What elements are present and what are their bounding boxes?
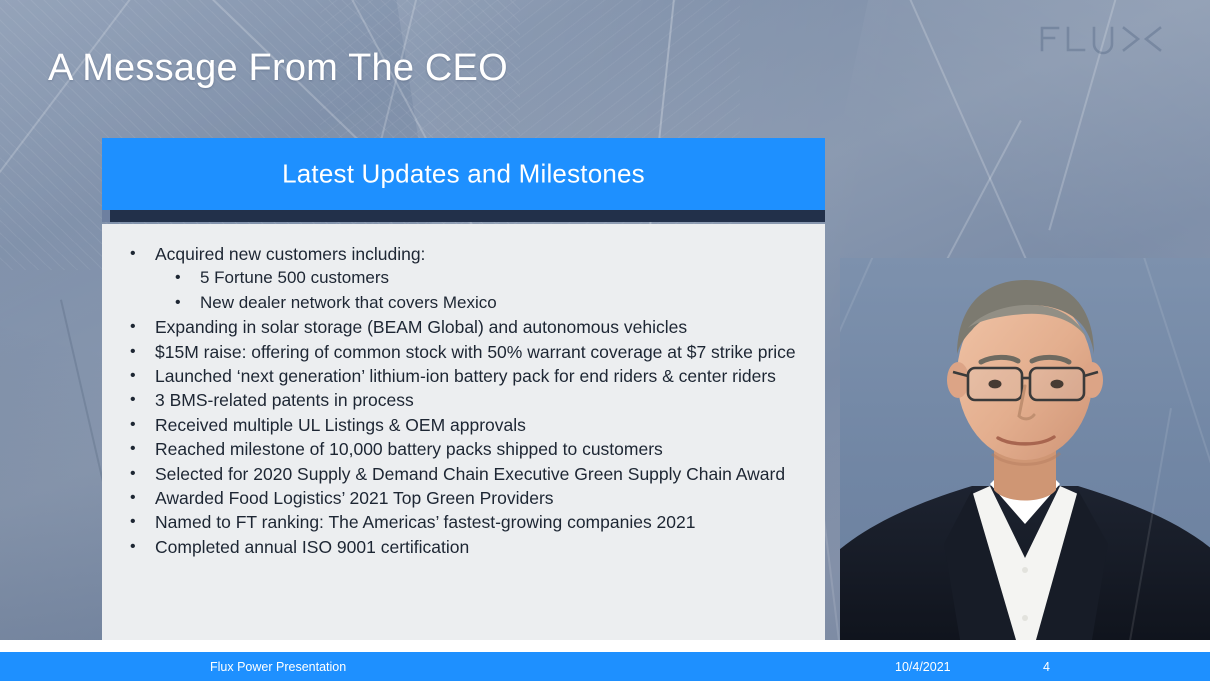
footer-page-number: 4 xyxy=(1043,660,1050,674)
bullet-item: •Named to FT ranking: The Americas’ fast… xyxy=(120,510,811,534)
slide-title: A Message From The CEO xyxy=(48,47,508,90)
bullet-item: •Selected for 2020 Supply & Demand Chain… xyxy=(120,462,811,486)
bullet-text: $15M raise: offering of common stock wit… xyxy=(155,340,811,364)
bullet-dot-icon: • xyxy=(130,315,155,339)
bullet-item: •$15M raise: offering of common stock wi… xyxy=(120,340,811,364)
bullet-item: •Completed annual ISO 9001 certification xyxy=(120,535,811,559)
bullet-item: •Acquired new customers including: xyxy=(120,242,811,266)
bullet-item: •Received multiple UL Listings & OEM app… xyxy=(120,413,811,437)
bullet-text: Received multiple UL Listings & OEM appr… xyxy=(155,413,811,437)
bullet-dot-icon: • xyxy=(130,535,155,559)
bullet-text: Launched ‘next generation’ lithium-ion b… xyxy=(155,364,811,388)
bullet-item: •5 Fortune 500 customers xyxy=(120,266,811,290)
bullet-text: 3 BMS-related patents in process xyxy=(155,388,811,412)
bullet-dot-icon: • xyxy=(130,486,155,510)
bullet-text: Expanding in solar storage (BEAM Global)… xyxy=(155,315,811,339)
bullet-list: •Acquired new customers including:•5 For… xyxy=(120,242,811,559)
bullet-item: •Launched ‘next generation’ lithium-ion … xyxy=(120,364,811,388)
bullet-dot-icon: • xyxy=(175,291,200,315)
flux-logo-watermark xyxy=(1038,22,1188,56)
bullet-text: Completed annual ISO 9001 certification xyxy=(155,535,811,559)
bullet-dot-icon: • xyxy=(130,510,155,534)
bullet-text: 5 Fortune 500 customers xyxy=(200,266,811,290)
card-header-title: Latest Updates and Milestones xyxy=(102,159,825,190)
slide-footer: Flux Power Presentation 10/4/2021 4 xyxy=(0,652,1210,681)
ceo-headshot-photo xyxy=(840,258,1210,640)
bullet-text: Selected for 2020 Supply & Demand Chain … xyxy=(155,462,811,486)
bullet-text: Acquired new customers including: xyxy=(155,242,811,266)
bullet-text: Named to FT ranking: The Americas’ faste… xyxy=(155,510,811,534)
bullet-dot-icon: • xyxy=(130,340,155,364)
presentation-slide: A Message From The CEO xyxy=(0,0,1210,681)
bullet-dot-icon: • xyxy=(130,364,155,388)
bullet-dot-icon: • xyxy=(175,266,200,290)
navy-divider-bar xyxy=(102,210,825,222)
bullet-dot-icon: • xyxy=(130,242,155,266)
bullet-text: New dealer network that covers Mexico xyxy=(200,291,811,315)
bullet-dot-icon: • xyxy=(130,388,155,412)
bullet-item: •3 BMS-related patents in process xyxy=(120,388,811,412)
bullet-dot-icon: • xyxy=(130,437,155,461)
footer-date: 10/4/2021 xyxy=(895,660,951,674)
bullet-text: Awarded Food Logistics’ 2021 Top Green P… xyxy=(155,486,811,510)
bullet-item: •Expanding in solar storage (BEAM Global… xyxy=(120,315,811,339)
bullet-item: •Reached milestone of 10,000 battery pac… xyxy=(120,437,811,461)
bullet-dot-icon: • xyxy=(130,413,155,437)
content-panel: •Acquired new customers including:•5 For… xyxy=(102,224,825,640)
bullet-text: Reached milestone of 10,000 battery pack… xyxy=(155,437,811,461)
bullet-dot-icon: • xyxy=(130,462,155,486)
bullet-item: •Awarded Food Logistics’ 2021 Top Green … xyxy=(120,486,811,510)
bullet-item: •New dealer network that covers Mexico xyxy=(120,291,811,315)
card-header-band: Latest Updates and Milestones xyxy=(102,138,825,210)
footer-presentation-name: Flux Power Presentation xyxy=(210,660,346,674)
